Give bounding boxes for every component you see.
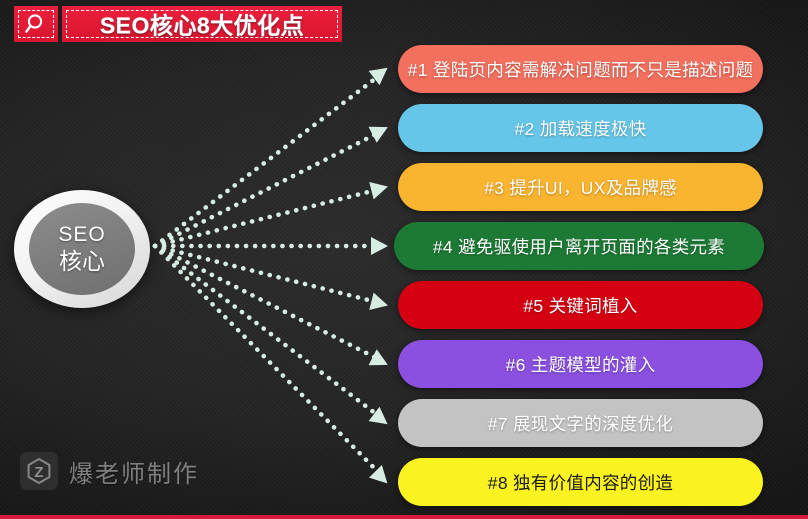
item-pill-7[interactable]: #7 展现文字的深度优化 [398, 399, 763, 447]
item-pill-2[interactable]: #2 加载速度极快 [398, 104, 763, 152]
connector-arrowhead-5 [369, 293, 390, 315]
item-pill-1[interactable]: #1 登陆页内容需解决问题而不只是描述问题 [398, 45, 763, 93]
connector-line-2 [155, 135, 375, 246]
item-pill-label: #5 关键词植入 [523, 293, 637, 318]
watermark-text: 爆老师制作 [69, 454, 199, 489]
connector-line-6 [155, 246, 375, 357]
item-pill-5[interactable]: #5 关键词植入 [398, 281, 763, 329]
item-pill-label: #8 独有价值内容的创造 [488, 470, 673, 495]
zhihu-logo-icon: Z [20, 452, 58, 490]
item-pill-label: #4 避免驱使用户离开页面的各类元素 [433, 234, 725, 259]
item-pill-label: #2 加载速度极快 [514, 116, 646, 141]
item-pill-3[interactable]: #3 提升UI，UX及品牌感 [398, 163, 763, 211]
connector-line-1 [155, 78, 376, 246]
slide-canvas: SEO核心8大优化点 SEO 核心 #1 登陆页内容需解决问题而不只是描述问题#… [0, 0, 808, 519]
connector-arrowhead-3 [369, 178, 390, 200]
item-pill-4[interactable]: #4 避免驱使用户离开页面的各类元素 [394, 222, 764, 270]
item-pill-label: #7 展现文字的深度优化 [488, 411, 673, 436]
connector-arrowhead-4 [371, 237, 388, 255]
connector-line-5 [155, 246, 373, 301]
connector-line-7 [155, 246, 376, 414]
connector-arrowhead-8 [369, 465, 394, 490]
item-pill-8[interactable]: #8 独有价值内容的创造 [398, 458, 763, 506]
connector-arrowhead-6 [369, 349, 392, 373]
svg-text:Z: Z [34, 464, 43, 481]
connector-line-8 [155, 246, 377, 471]
item-pill-label: #3 提升UI，UX及品牌感 [484, 175, 677, 200]
item-pill-label: #1 登陆页内容需解决问题而不只是描述问题 [408, 57, 754, 82]
item-pill-6[interactable]: #6 主题模型的灌入 [398, 340, 763, 388]
connector-arrowhead-2 [369, 119, 392, 143]
watermark: Z 爆老师制作 [20, 452, 199, 490]
connector-line-3 [155, 191, 373, 246]
bottom-accent-rule [0, 515, 808, 519]
item-pill-label: #6 主题模型的灌入 [506, 352, 656, 377]
